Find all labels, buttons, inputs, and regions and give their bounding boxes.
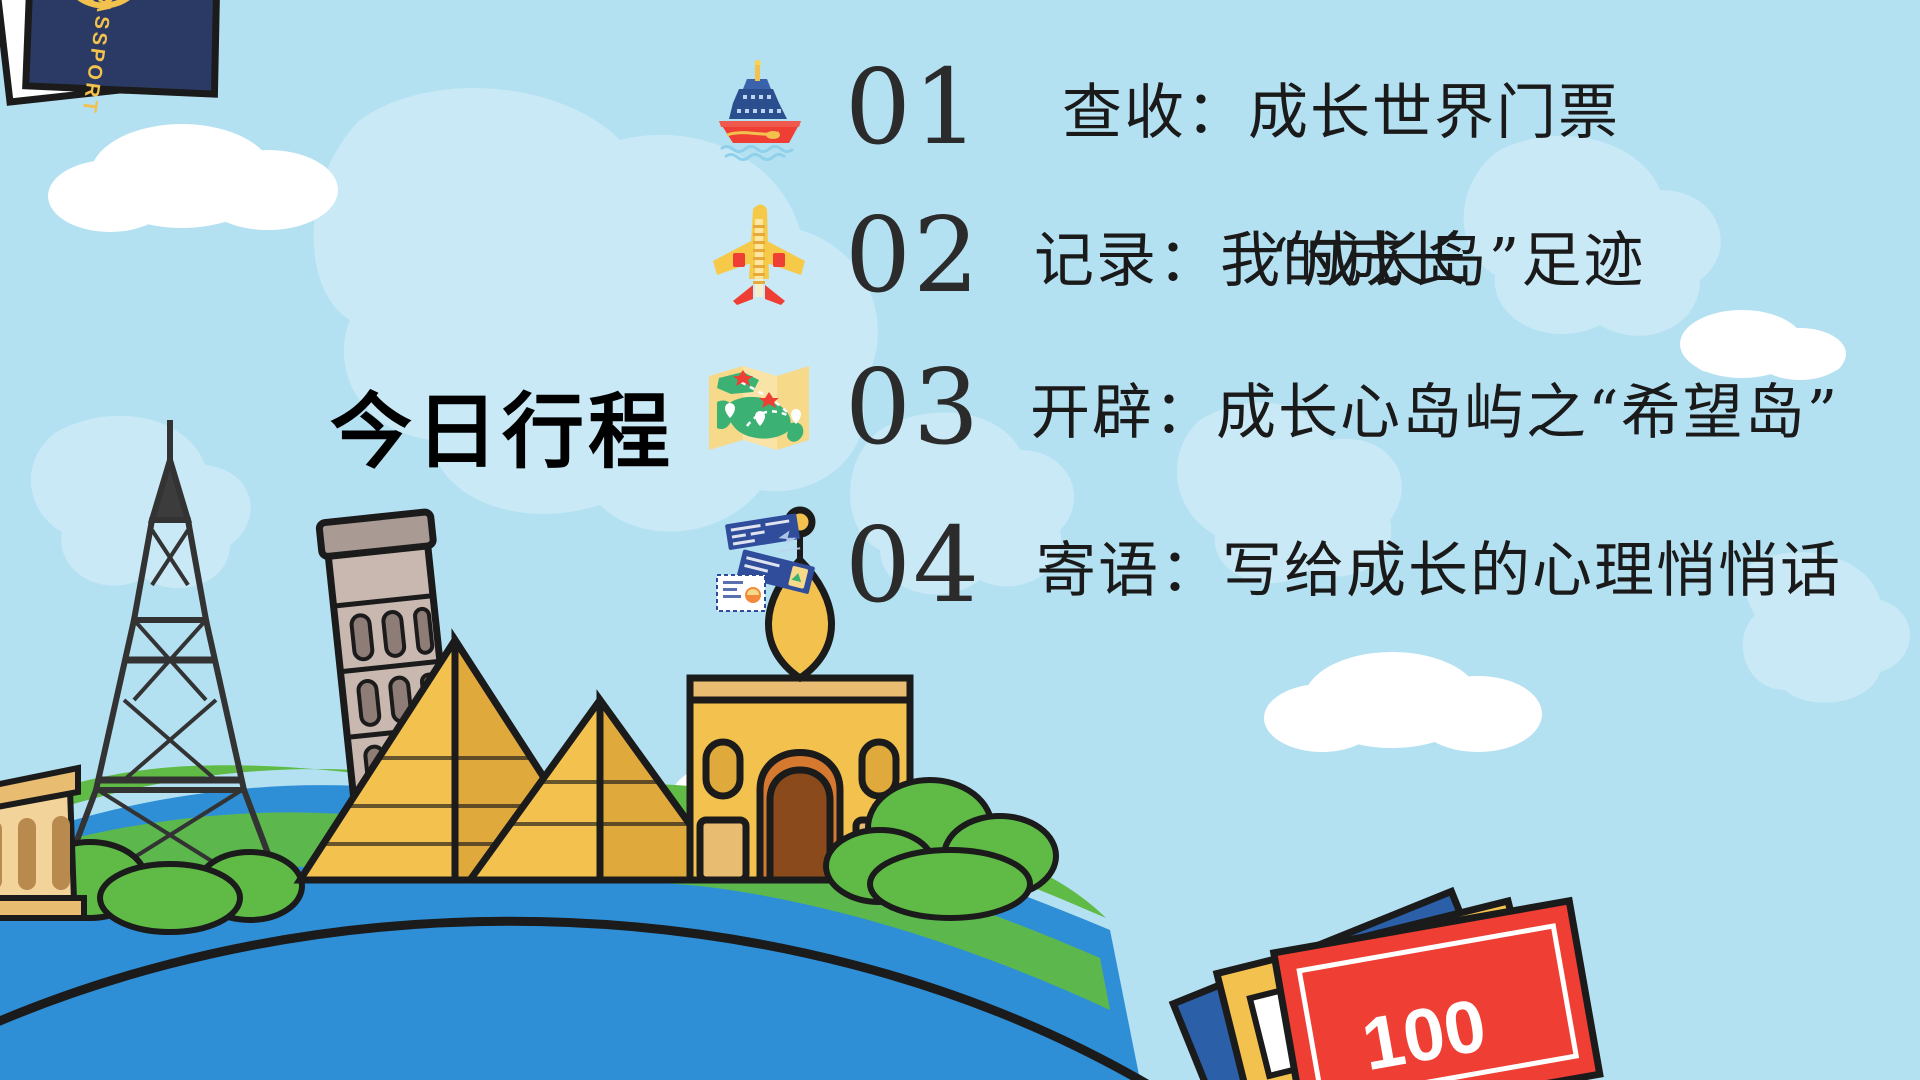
- agenda-number-03: 03: [818, 355, 1008, 459]
- airplane-icon: [700, 196, 818, 314]
- cruise-ship-icon: [700, 48, 818, 166]
- agenda-text-02-overlay: “成长岛”足迹: [1270, 212, 1645, 299]
- tickets-stamp-icon: [700, 506, 818, 624]
- slide-root: PASSPORT: [0, 0, 1920, 1080]
- agenda-item-01[interactable]: 01 查收：成长世界门票: [700, 32, 1620, 182]
- agenda-number-01: 01: [818, 55, 1008, 159]
- world-map-icon: [700, 348, 818, 466]
- agenda-number-04: 04: [818, 513, 1008, 617]
- agenda-text-02: 记录：我的成长 “成长岛”足迹: [1034, 212, 1468, 299]
- agenda-item-02[interactable]: 02 记录：我的成长 “成长岛”足迹: [700, 180, 1468, 330]
- agenda-item-04[interactable]: 04 寄语：写给成长的心理悄悄话: [700, 490, 1842, 640]
- agenda-number-02: 02: [818, 203, 1008, 307]
- agenda-list: 01 查收：成长世界门票: [700, 22, 1920, 722]
- page-title: 今日行程: [330, 392, 674, 474]
- agenda-text-03: 开辟：成长心岛屿之“希望岛”: [1030, 364, 1839, 451]
- agenda-item-03[interactable]: 03 开辟：成长心岛屿之“希望岛”: [700, 332, 1839, 482]
- roman-ruins-illustration: [0, 768, 84, 918]
- agenda-text-01: 查收：成长世界门票: [1062, 64, 1620, 151]
- agenda-text-04: 寄语：写给成长的心理悄悄话: [1036, 522, 1842, 609]
